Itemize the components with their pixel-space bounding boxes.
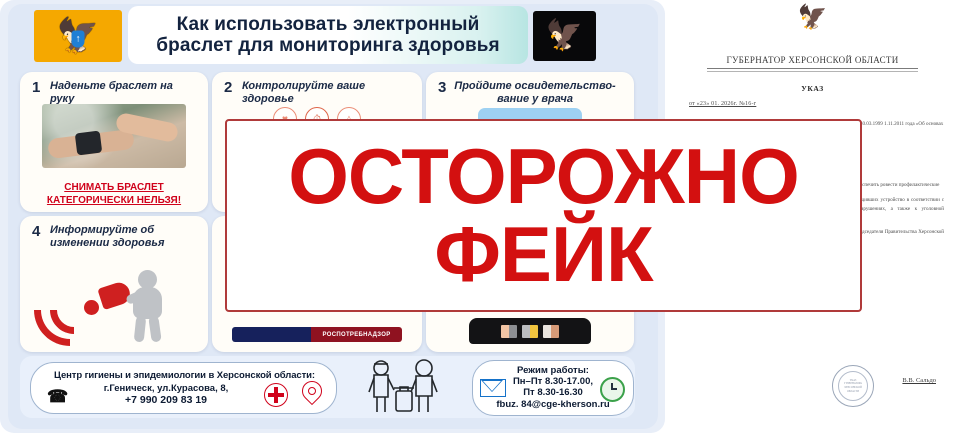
phone-swatch-1 xyxy=(501,325,517,338)
step-1-warning-line2: КАТЕГОРИЧЕСКИ НЕЛЬЗЯ! xyxy=(47,195,181,206)
step-1-title: Наденьте браслет на руку xyxy=(50,80,200,107)
step-4-title-line1: Информируйте об xyxy=(50,224,154,236)
photo-bracelet-shape xyxy=(75,131,102,156)
document-rule-top xyxy=(707,68,918,69)
working-hours-block: Режим работы: Пн–Пт 8.30-17.00, Пт 8.30-… xyxy=(472,360,634,416)
phone-swatch-2 xyxy=(522,325,538,338)
megaphone-person-icon xyxy=(28,262,200,346)
fake-warning-line1: ОСТОРОЖНО xyxy=(288,140,799,213)
step-3-title-line1: Пройдите освидетельство- xyxy=(454,80,615,92)
figure-leg-right xyxy=(148,315,162,342)
step-4-number: 4 xyxy=(32,223,40,240)
flag-shield-icon: ↑ xyxy=(72,31,85,48)
sound-dot-icon xyxy=(84,300,99,315)
hours-row-2: Пт 8.30-16.30 xyxy=(503,387,603,398)
kherson-flag-eagle-icon: 🦅 ↑ xyxy=(34,10,122,62)
contact-info-block: ☎ Центр гигиены и эпидемиологии в Херсон… xyxy=(30,362,337,414)
wrist-bracelet-photo xyxy=(42,104,186,168)
document-organization: ГУБЕРНАТОР ХЕРСОНСКОЙ ОБЛАСТИ xyxy=(665,55,960,65)
person-figure-icon xyxy=(124,270,172,342)
red-cross-icon xyxy=(264,383,288,407)
rospotrebnadzor-bar: РОСПОТРЕБНАДЗОР xyxy=(232,327,402,342)
step-card-1: 1 Наденьте браслет на руку СНИМАТЬ БРАСЛ… xyxy=(20,72,208,212)
contact-address: г.Геническ, ул.Курасова, 8, xyxy=(71,383,261,394)
step-card-4: 4 Информируйте об изменении здоровья xyxy=(20,216,208,352)
step-2-number: 2 xyxy=(224,79,232,96)
contact-phone: +7 990 209 83 19 xyxy=(71,394,261,406)
poster-title-line1: Как использовать электронный xyxy=(177,14,480,35)
figure-leg-left xyxy=(134,316,147,343)
document-signature: В.В. Сальдо xyxy=(902,377,936,384)
step-1-warning: СНИМАТЬ БРАСЛЕТ КАТЕГОРИЧЕСКИ НЕЛЬЗЯ! xyxy=(20,182,208,207)
rpn-bar-blue xyxy=(232,327,311,342)
poster-footer: ☎ Центр гигиены и эпидемиологии в Херсон… xyxy=(20,356,635,418)
document-seal-inner: УКАЗ ГУБЕРНАТОРА ХЕРСОНСКОЙ ОБЛАСТИ xyxy=(838,371,868,401)
document-rule-bottom xyxy=(707,71,918,72)
hours-title: Режим работы: xyxy=(473,365,633,376)
rospotrebnadzor-eagle-icon: 🦅 xyxy=(533,11,596,61)
phone-icon: ☎ xyxy=(47,387,68,407)
screenshot-canvas: 🦅 ↑ Как использовать электронный браслет… xyxy=(0,0,960,433)
step-4-title: Информируйте об изменении здоровья xyxy=(50,224,200,251)
rpn-bar-red: РОСПОТРЕБНАДЗОР xyxy=(311,327,402,342)
clock-icon xyxy=(600,377,625,402)
poster-title-line2: браслет для мониторинга здоровья xyxy=(156,35,499,56)
rpn-bar-label: РОСПОТРЕБНАДЗОР xyxy=(323,332,391,338)
document-seal: УКАЗ ГУБЕРНАТОРА ХЕРСОНСКОЙ ОБЛАСТИ xyxy=(832,365,874,407)
step-1-warning-line1: СНИМАТЬ БРАСЛЕТ xyxy=(64,182,163,193)
poster-title: Как использовать электронный браслет для… xyxy=(128,6,528,64)
step-3-title-line2: вание у врача xyxy=(497,93,573,105)
russian-coat-of-arms-icon: 🦅 xyxy=(798,6,828,30)
phone-swatch-3 xyxy=(543,325,559,338)
hours-row-1: Пн–Пт 8.30-17.00, xyxy=(503,376,603,387)
couple-with-luggage-icon xyxy=(350,358,460,416)
document-date: от «23» 01. 2026г. №16-г xyxy=(689,101,756,107)
poster-header: 🦅 ↑ Как использовать электронный браслет… xyxy=(20,6,635,64)
step-1-number: 1 xyxy=(32,79,40,96)
gold-eagle-glyph: 🦅 xyxy=(546,21,583,51)
step-3-title: Пройдите освидетельство- вание у врача xyxy=(444,80,626,107)
document-type: УКАЗ xyxy=(665,84,960,93)
fake-warning-overlay: ОСТОРОЖНО ФЕЙК xyxy=(225,119,862,312)
fake-warning-line2: ФЕЙК xyxy=(434,218,652,291)
contact-organization: Центр гигиены и эпидемиологии в Херсонск… xyxy=(43,370,326,381)
smartphone-icon xyxy=(469,318,591,344)
map-pin-icon xyxy=(298,377,326,405)
step-4-title-line2: изменении здоровья xyxy=(50,237,164,249)
